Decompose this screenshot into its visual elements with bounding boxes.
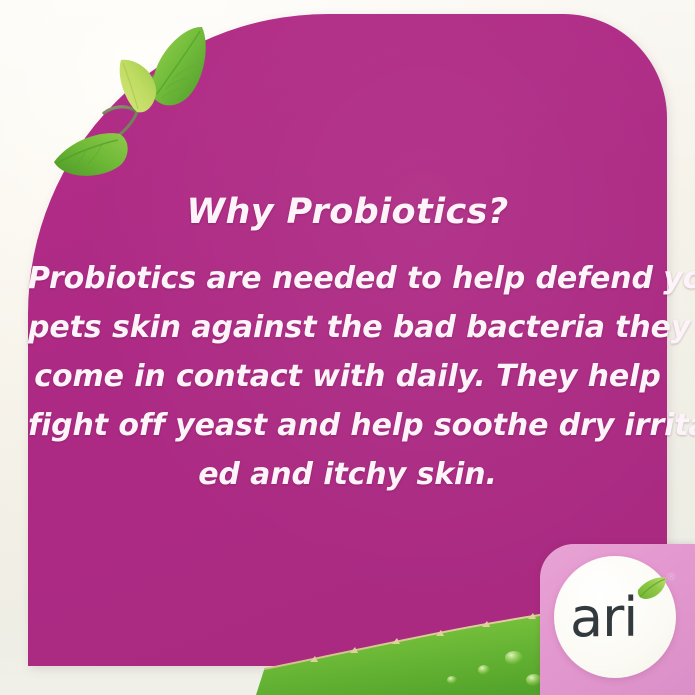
logo-circle-backdrop: ari	[554, 556, 676, 678]
brand-logo-badge[interactable]: ari ®	[540, 544, 695, 695]
body-line: fight off yeast and help soothe dry irri…	[28, 401, 667, 450]
registered-trademark-symbol: ®	[666, 570, 677, 583]
page-title: Why Probiotics?	[186, 192, 508, 232]
body-copy: Probiotics are needed to help defend you…	[28, 254, 667, 499]
body-line: come in contact with daily. They help	[28, 352, 667, 401]
ari-wordmark-icon: ari	[554, 556, 676, 678]
promo-graphic-canvas: Why Probiotics? Probiotics are needed to…	[0, 0, 695, 695]
body-line: ed and itchy skin.	[28, 450, 667, 499]
svg-text:ari: ari	[570, 586, 637, 649]
body-line: pets skin against the bad bacteria they	[28, 303, 667, 352]
body-line: Probiotics are needed to help defend you…	[28, 254, 667, 303]
